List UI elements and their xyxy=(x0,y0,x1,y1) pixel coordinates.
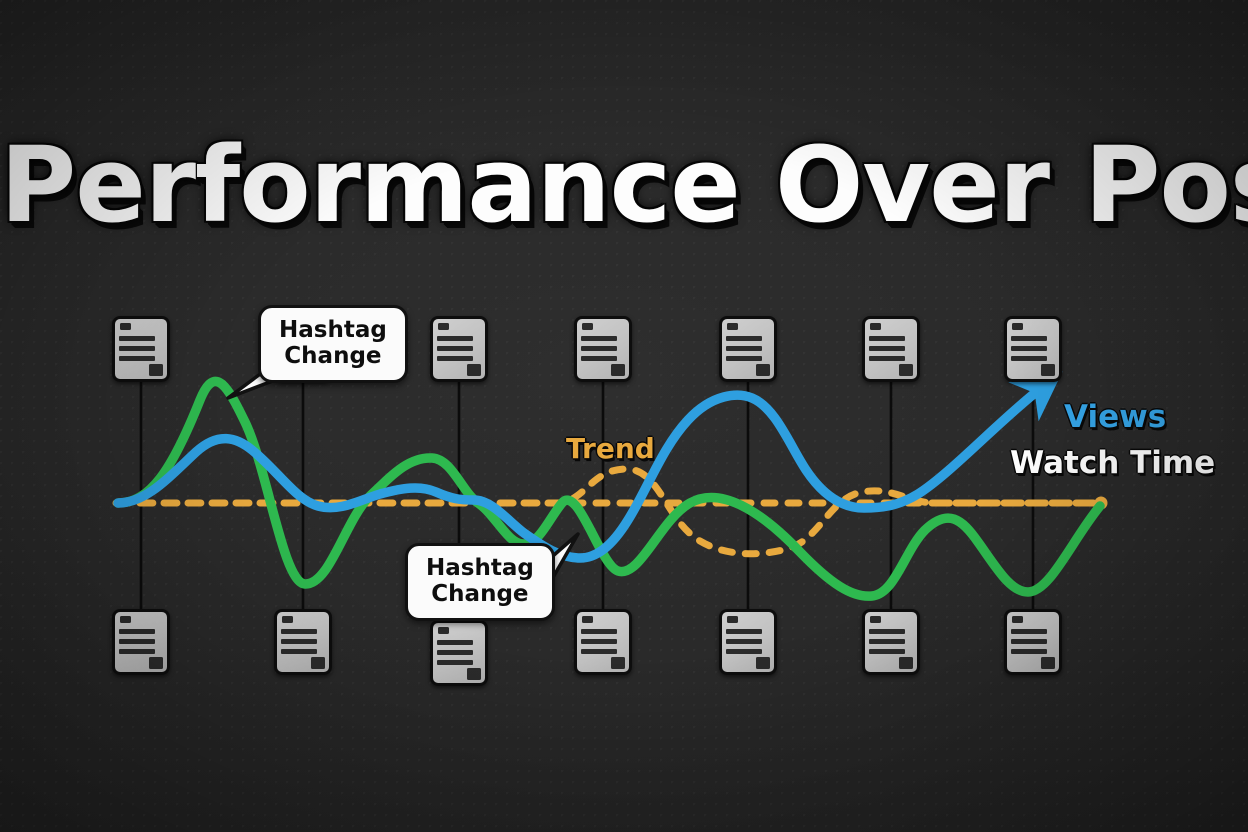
callout-line-1: Hashtag xyxy=(279,317,387,343)
watch-time-label: Watch Time xyxy=(1010,445,1215,481)
callout-line-2: Change xyxy=(279,343,387,369)
views-label: Views xyxy=(1064,399,1166,435)
infographic-canvas: Performance Over Posts xyxy=(0,0,1248,832)
callout-tails xyxy=(0,0,1248,832)
trend-label: Trend xyxy=(566,432,655,465)
callout-line-1: Hashtag xyxy=(426,555,534,581)
callout-hashtag-change-1[interactable]: Hashtag Change xyxy=(258,305,408,383)
callout-line-2: Change xyxy=(426,581,534,607)
callout-hashtag-change-2[interactable]: Hashtag Change xyxy=(405,543,555,621)
